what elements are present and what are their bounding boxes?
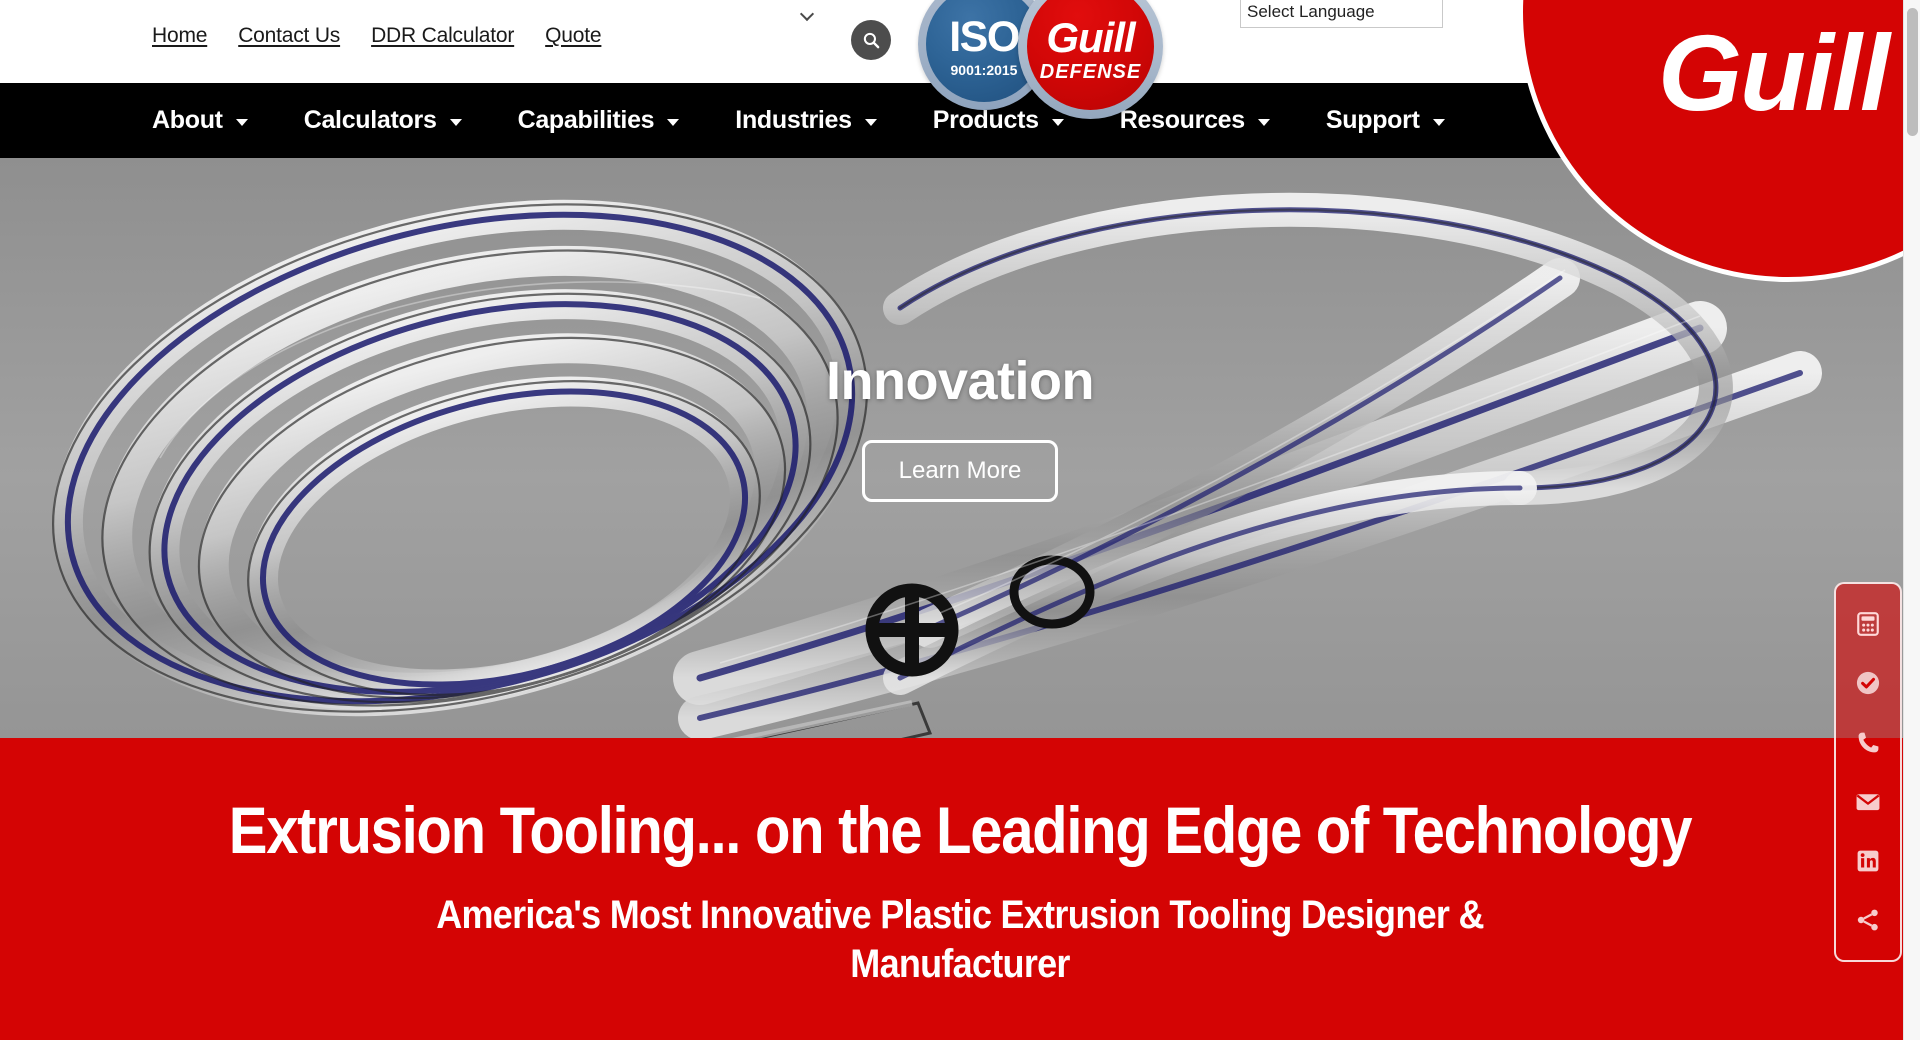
utility-link-quote[interactable]: Quote [545,24,601,48]
floating-check-button[interactable] [1845,660,1891,706]
hero-section: Innovation Learn More [0,158,1920,738]
language-select[interactable]: Select Language [1240,0,1443,28]
chevron-down-icon [1052,119,1064,126]
linkedin-icon [1855,848,1881,874]
learn-more-button[interactable]: Learn More [862,440,1058,502]
scrollbar-thumb[interactable] [1907,8,1918,136]
nav-label: Resources [1120,106,1245,135]
iso-badge-title: ISO [949,16,1019,59]
nav-label: Calculators [304,106,437,135]
band-headline: Extrusion Tooling... on the Leading Edge… [115,796,1805,865]
phone-icon [1855,729,1882,756]
check-circle-icon [1854,669,1882,697]
chevron-down-icon [865,119,877,126]
utility-link-contact-us[interactable]: Contact Us [238,24,340,48]
chevron-down-icon [1433,119,1445,126]
chevron-down-icon [1258,119,1270,126]
defense-badge-subtitle: DEFENSE [1040,61,1141,84]
utility-link-ddr-calculator[interactable]: DDR Calculator [371,24,514,48]
language-select-wrapper: Select Language [620,0,823,31]
page-root: Innovation Learn More Extrusion Tooling.… [0,0,1920,1040]
iso-badge-subtitle: 9001:2015 [951,62,1018,78]
floating-share-button[interactable] [1845,897,1891,943]
defense-badge-title: Guill [1046,17,1134,59]
calculator-icon [1855,611,1881,637]
defense-badge-inner: Guill DEFENSE [1027,0,1154,110]
floating-calculator-button[interactable] [1845,601,1891,647]
chevron-down-icon [667,119,679,126]
page-scrollbar[interactable] [1903,0,1920,1040]
utility-link-home[interactable]: Home [152,24,207,48]
nav-item-support[interactable]: Support [1326,106,1445,135]
chevron-down-icon [802,8,813,19]
chevron-down-icon [450,119,462,126]
nav-label: Products [933,106,1039,135]
search-icon [862,31,881,50]
floating-linkedin-button[interactable] [1845,838,1891,884]
chevron-down-icon [236,119,248,126]
email-icon [1854,788,1882,816]
nav-item-about[interactable]: About [152,106,248,135]
band-subheadline: America's Most Innovative Plastic Extrus… [96,891,1824,989]
nav-item-industries[interactable]: Industries [735,106,876,135]
nav-item-products[interactable]: Products [933,106,1064,135]
floating-phone-button[interactable] [1845,719,1891,765]
hero-overlay: Innovation Learn More [0,158,1920,738]
nav-item-capabilities[interactable]: Capabilities [518,106,680,135]
nav-label: Support [1326,106,1420,135]
share-icon [1855,907,1881,933]
floating-action-bar [1834,582,1902,962]
nav-item-calculators[interactable]: Calculators [304,106,462,135]
tagline-band: Extrusion Tooling... on the Leading Edge… [0,738,1920,1040]
nav-label: About [152,106,223,135]
nav-item-resources[interactable]: Resources [1120,106,1270,135]
nav-label: Industries [735,106,851,135]
floating-email-button[interactable] [1845,779,1891,825]
nav-label: Capabilities [518,106,655,135]
guill-logo-text: Guill [1658,10,1888,135]
utility-nav: Home Contact Us DDR Calculator Quote [152,24,601,48]
search-button[interactable] [851,20,891,60]
hero-title: Innovation [826,350,1094,412]
